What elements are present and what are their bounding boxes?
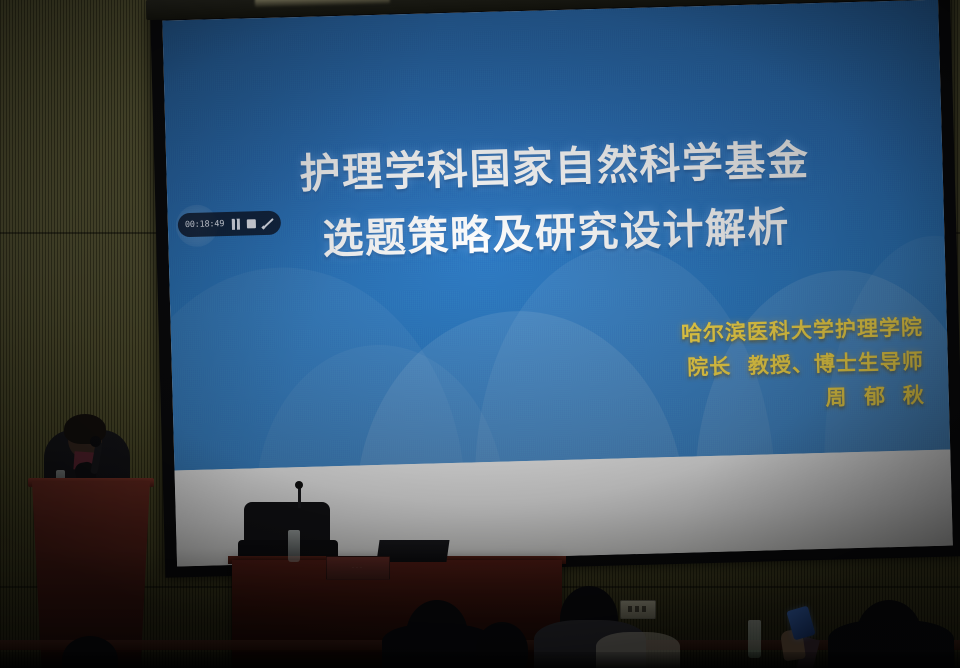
stop-icon[interactable] xyxy=(247,219,256,228)
recording-timer: 00:18:49 xyxy=(185,219,225,230)
pause-icon[interactable] xyxy=(232,218,240,229)
slide-author-block: 哈尔滨医科大学护理学院 院长 教授、博士生导师 周 郁 秋 xyxy=(681,310,926,419)
presentation-slide: 护理学科国家自然科学基金 选题策略及研究设计解析 哈尔滨医科大学护理学院 院长 … xyxy=(162,0,950,471)
screen-surface: 护理学科国家自然科学基金 选题策略及研究设计解析 哈尔滨医科大学护理学院 院长 … xyxy=(162,0,952,566)
author-name: 周 郁 秋 xyxy=(682,378,925,419)
screen-recorder-overlay[interactable]: 00:18:49 xyxy=(175,201,276,250)
slide-title: 护理学科国家自然科学基金 选题策略及研究设计解析 xyxy=(166,124,945,278)
table-microphone-head xyxy=(295,481,303,489)
table-microphone-stand xyxy=(298,486,301,508)
pen-icon[interactable] xyxy=(263,217,274,228)
recorder-toolbar[interactable]: 00:18:49 xyxy=(178,211,282,238)
screenshot-root: 护理学科国家自然科学基金 选题策略及研究设计解析 哈尔滨医科大学护理学院 院长 … xyxy=(0,0,960,668)
projection-screen: 护理学科国家自然科学基金 选题策略及研究设计解析 哈尔滨医科大学护理学院 院长 … xyxy=(150,0,960,578)
microphone-head xyxy=(90,436,101,447)
recorder-controls[interactable] xyxy=(232,217,274,229)
foreground-shadow xyxy=(0,652,960,668)
